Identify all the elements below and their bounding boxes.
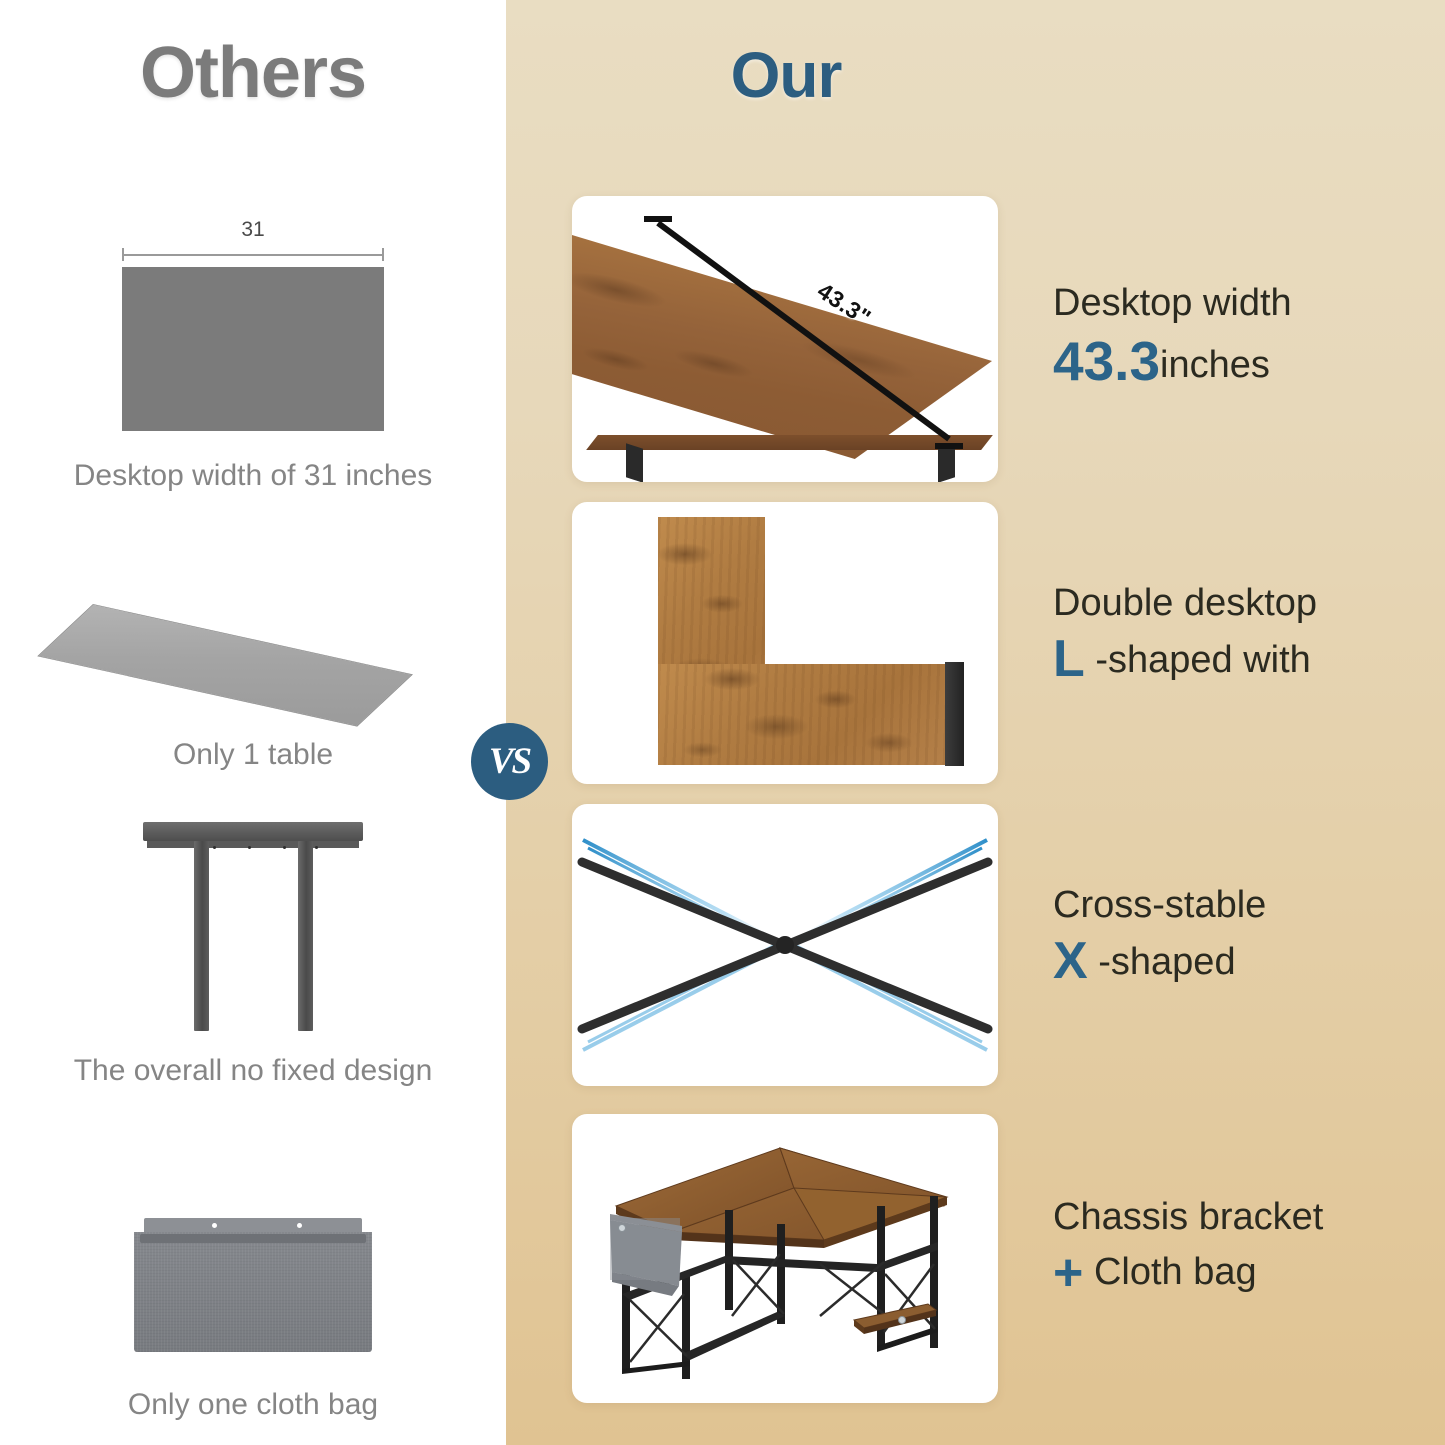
accessory-label-4: Cloth bag [1094, 1251, 1257, 1293]
others-caption-2: Only 1 table [0, 738, 506, 772]
our-text-desktop-width: Desktop width 43.3inches [1053, 282, 1445, 393]
highlight-value-2: L [1053, 630, 1085, 688]
others-item-single-table: Only 1 table [0, 604, 506, 772]
others-item-no-fixed-design: The overall no fixed design [0, 822, 506, 1088]
our-line1-1: Desktop width [1053, 282, 1445, 326]
l-shape-horizontal-top [658, 664, 954, 765]
our-line1-2: Double desktop [1053, 582, 1445, 626]
others-item-desktop-width: 31 Desktop width of 31 inches [0, 218, 506, 493]
our-line2-2: L -shaped with [1053, 630, 1445, 690]
gray-slab-icon [122, 267, 384, 431]
our-text-double-desktop: Double desktop L -shaped with [1053, 582, 1445, 689]
dimension-tick-left [122, 248, 124, 261]
gray-cloth-bag-icon [134, 1218, 372, 1358]
vs-label: VS [489, 740, 530, 783]
dimension-line [122, 248, 384, 260]
unit-label-1: inches [1160, 344, 1270, 386]
our-card-double-desktop [572, 502, 998, 784]
our-heading: Our [506, 38, 1066, 112]
our-text-cross-stable: Cross-stable X -shaped [1053, 884, 1445, 991]
our-line1-3: Cross-stable [1053, 884, 1445, 928]
our-line2-4: + Cloth bag [1053, 1244, 1445, 1304]
others-caption-3: The overall no fixed design [0, 1054, 506, 1088]
dimension-value: 31 [122, 218, 384, 242]
dimension-diagram: 31 [122, 218, 384, 431]
highlight-value-1: 43.3 [1053, 330, 1160, 392]
our-line2-1: 43.3inches [1053, 330, 1445, 393]
vs-badge: VS [471, 723, 548, 800]
highlight-value-4: + [1053, 1244, 1083, 1302]
l-desk-assembly-icon [572, 1114, 998, 1403]
shape-label-2: -shaped with [1095, 639, 1310, 681]
shape-label-3: -shaped [1098, 941, 1235, 983]
x-cross-brace-icon [572, 804, 998, 1086]
our-text-chassis-bracket: Chassis bracket + Cloth bag [1053, 1196, 1445, 1303]
l-shape-end-cap [945, 662, 964, 766]
highlight-value-3: X [1053, 932, 1088, 990]
dimension-tick-right [382, 248, 384, 261]
others-item-cloth-bag: Only one cloth bag [0, 1218, 506, 1422]
our-card-chassis-bracket [572, 1114, 998, 1403]
our-card-cross-stable [572, 804, 998, 1086]
comparison-infographic: Others Our 31 Desktop width of 31 inches… [0, 0, 1445, 1445]
gray-board-icon [93, 604, 413, 714]
others-heading: Others [0, 32, 506, 114]
gray-frame-icon [143, 822, 363, 1032]
our-card-desktop-width: 43.3" [572, 196, 998, 482]
our-line1-4: Chassis bracket [1053, 1196, 1445, 1240]
others-caption-1: Desktop width of 31 inches [0, 459, 506, 493]
dimension-arrow-icon [572, 196, 998, 482]
others-caption-4: Only one cloth bag [0, 1388, 506, 1422]
our-line2-3: X -shaped [1053, 932, 1445, 992]
